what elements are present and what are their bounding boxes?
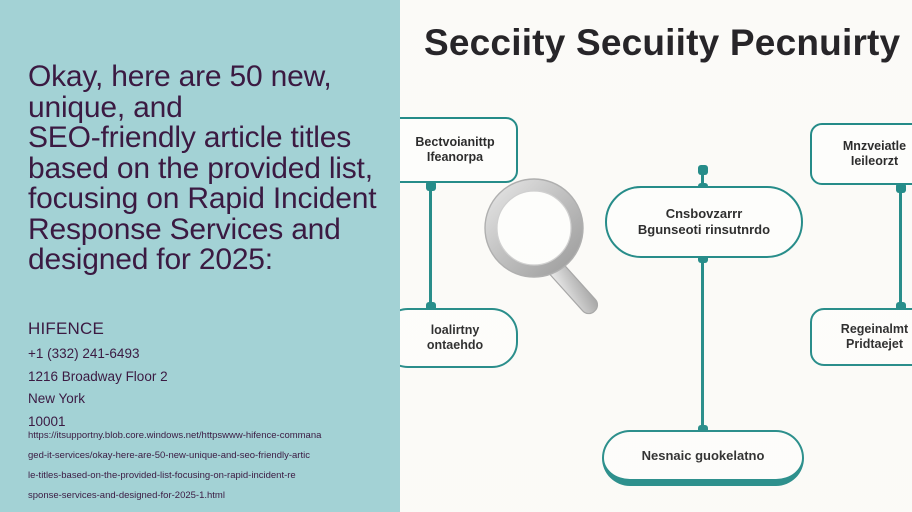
url-line-4: sponse-services-and-designed-for-2025-1.… [28, 486, 380, 506]
url-line-1: https://itsupportny.blob.core.windows.ne… [28, 426, 380, 446]
diagram-node-center: Cnsbovzarrr Bgunseoti rinsutnrdo [605, 186, 803, 258]
connector-left-vertical [429, 184, 432, 309]
page-title: Okay, here are 50 new, unique, and SEO-f… [28, 62, 380, 276]
magnifying-glass-icon [478, 172, 620, 320]
node-label-line1: Bectvoianittp [415, 135, 494, 150]
contact-street: 1216 Broadway Floor 2 [28, 366, 380, 389]
node-label-line1: Mnzveiatle [843, 139, 906, 154]
slide-canvas: Okay, here are 50 new, unique, and SEO-f… [0, 0, 912, 512]
node-label-line2: ontaehdo [427, 338, 483, 353]
connector-right-vertical [899, 186, 902, 309]
diagram-image-panel: Secciity Secuiity Pecnuirty Bectvoianitt… [400, 0, 912, 512]
node-label-line2: Pridtaejet [846, 337, 903, 352]
source-url[interactable]: https://itsupportny.blob.core.windows.ne… [28, 426, 380, 506]
diagram-node-bottom-right: Regeinalmt Pridtaejet [810, 308, 912, 366]
node-label-line1: Cnsbovzarrr [666, 206, 743, 222]
node-label-line1: Nesnaic guokelatno [642, 448, 765, 464]
node-label-line1: loalirtny [431, 323, 480, 338]
node-label-line2: Ifeanorpa [427, 150, 483, 165]
diagram-node-top-left: Bectvoianittp Ifeanorpa [400, 117, 518, 183]
diagram-node-top-right: Mnzveiatle Ieileorzt [810, 123, 912, 185]
url-line-3: le-titles-based-on-the-provided-list-foc… [28, 466, 380, 486]
url-line-2: ged-it-services/okay-here-are-50-new-uni… [28, 446, 380, 466]
node-label-line1: Regeinalmt [841, 322, 908, 337]
diagram-node-bottom-center: Nesnaic guokelatno [602, 430, 804, 486]
contact-block: +1 (332) 241-6493 1216 Broadway Floor 2 … [28, 343, 380, 433]
diagram-heading: Secciity Secuiity Pecnuirty [424, 22, 912, 64]
left-text-panel: Okay, here are 50 new, unique, and SEO-f… [0, 0, 400, 512]
contact-phone: +1 (332) 241-6493 [28, 343, 380, 366]
contact-city: New York [28, 388, 380, 411]
node-label-line2: Ieileorzt [851, 154, 898, 169]
connector-center-bottom [701, 256, 704, 432]
diagram-node-bottom-left: loalirtny ontaehdo [400, 308, 518, 368]
node-label-line2: Bgunseoti rinsutnrdo [638, 222, 770, 238]
brand-name: HIFENCE [28, 318, 104, 340]
